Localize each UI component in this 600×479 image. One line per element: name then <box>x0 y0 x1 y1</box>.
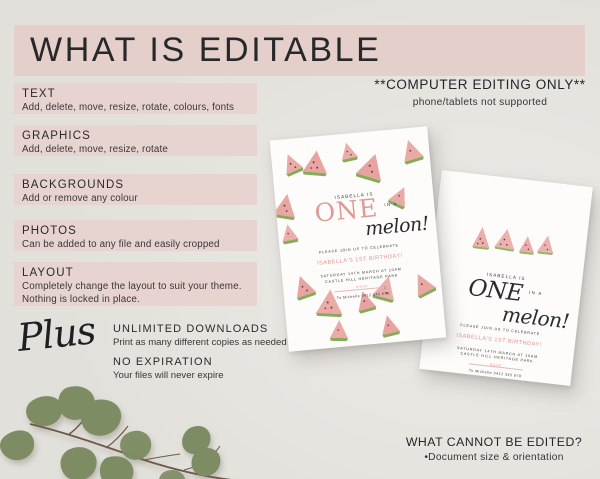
card-in-a: IN A <box>384 201 398 207</box>
feature-row-backgrounds: BACKGROUNDS Add or remove any colour <box>14 174 257 205</box>
feature-title: PHOTOS <box>22 224 249 238</box>
cannot-be-edited-notice: WHAT CANNOT BE EDITED? •Document size & … <box>388 434 600 465</box>
feature-desc: Completely change the layout to suit you… <box>22 281 249 306</box>
notice-headline: **COMPUTER EDITING ONLY** <box>360 76 600 94</box>
feature-row-photos: PHOTOS Can be added to any file and easi… <box>14 220 257 251</box>
feature-title: BACKGROUNDS <box>22 178 249 192</box>
page-title: WHAT IS EDITABLE <box>30 28 381 73</box>
cannot-item: •Document size & orientation <box>388 451 600 465</box>
feature-desc: Add, delete, move, resize, rotate, colou… <box>22 102 249 115</box>
feature-title: GRAPHICS <box>22 129 249 143</box>
plus-script-label: Plus <box>15 308 97 360</box>
feature-row-text: TEXT Add, delete, move, resize, rotate, … <box>14 83 257 114</box>
computer-editing-notice: **COMPUTER EDITING ONLY** phone/tablets … <box>360 76 600 110</box>
card-in-a: IN A <box>529 290 543 296</box>
feature-row-graphics: GRAPHICS Add, delete, move, resize, rota… <box>14 125 257 156</box>
eucalyptus-icon <box>0 372 244 479</box>
feature-title: TEXT <box>22 87 249 101</box>
poster-canvas: WHAT IS EDITABLE TEXT Add, delete, move,… <box>0 0 600 479</box>
invitation-card-front[interactable]: ISABELLA IS ONE IN A melon! PLEASE JOIN … <box>270 126 447 351</box>
plus-item-desc: Print as many different copies as needed <box>113 337 287 349</box>
plus-item-title: NO EXPIRATION <box>113 355 224 369</box>
feature-desc: Can be added to any file and easily crop… <box>22 239 249 252</box>
plus-item-title: UNLIMITED DOWNLOADS <box>113 322 287 336</box>
watermelon-slice <box>469 222 558 262</box>
cannot-headline: WHAT CANNOT BE EDITED? <box>388 434 600 450</box>
notice-subline: phone/tablets not supported <box>360 96 600 110</box>
invitation-card-back[interactable]: ISABELLA IS ONE IN A melon! PLEASE JOIN … <box>419 170 593 386</box>
feature-title: LAYOUT <box>22 266 249 280</box>
plus-item-unlimited-downloads: UNLIMITED DOWNLOADS Print as many differ… <box>113 322 287 349</box>
feature-desc: Add, delete, move, resize, rotate <box>22 144 249 157</box>
feature-desc: Add or remove any colour <box>22 193 249 206</box>
feature-row-layout: LAYOUT Completely change the layout to s… <box>14 262 257 306</box>
